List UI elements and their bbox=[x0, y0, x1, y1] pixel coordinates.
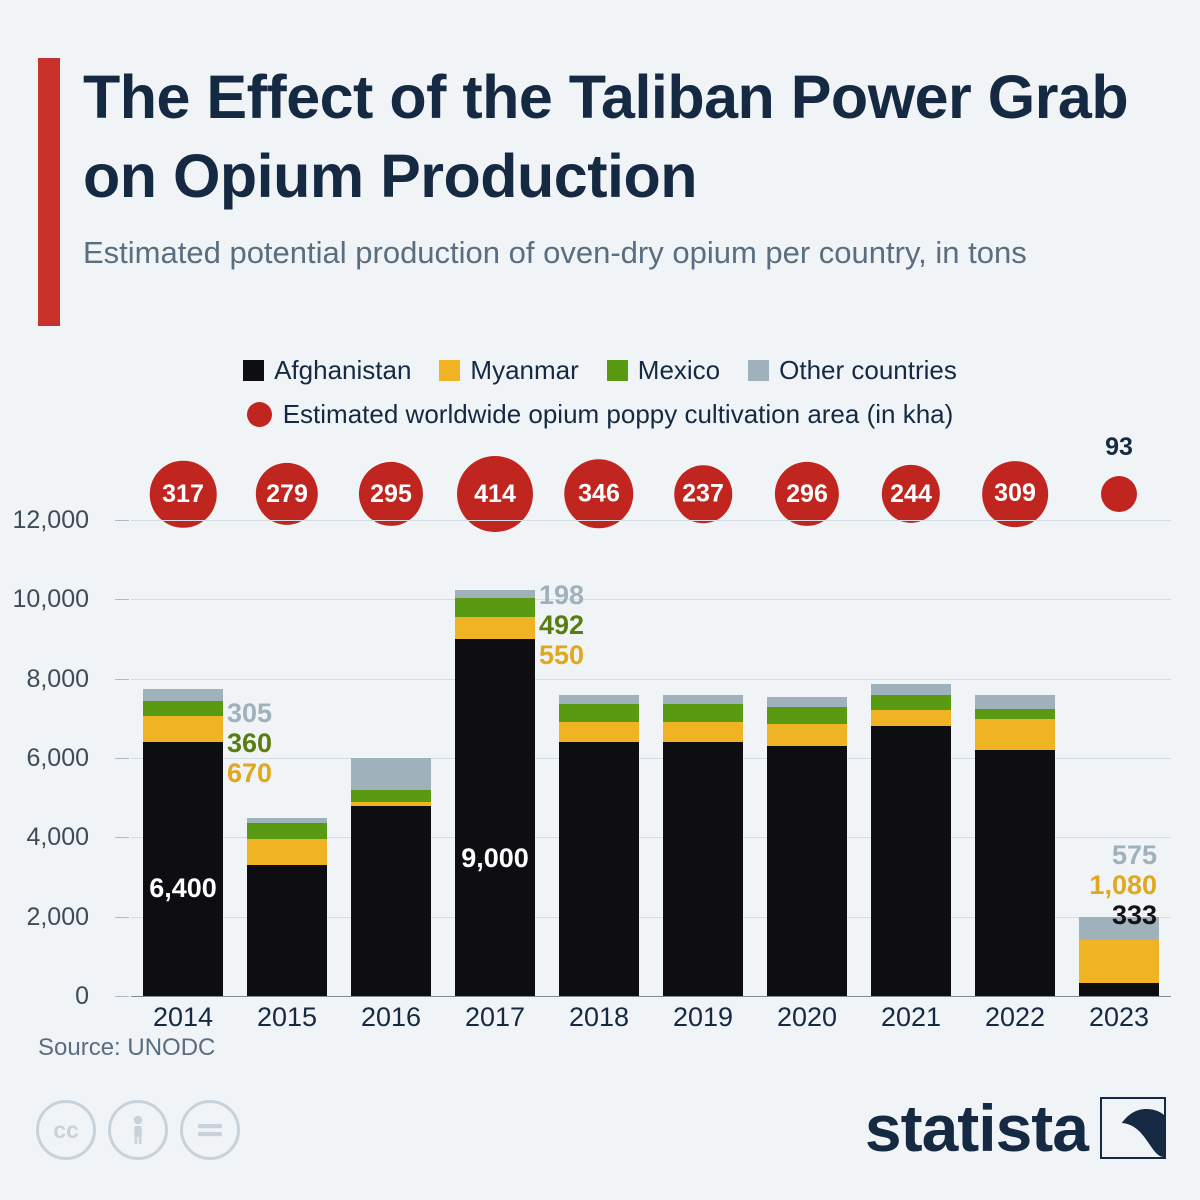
cc-nd-equals-icon[interactable] bbox=[180, 1100, 240, 1160]
statista-wordmark: statista bbox=[865, 1095, 1088, 1161]
x-axis-tick-label: 2017 bbox=[440, 1002, 550, 1033]
bar-segment-mexico[interactable] bbox=[143, 701, 223, 715]
square-swatch-icon bbox=[243, 360, 264, 381]
bar-segment-other-countries[interactable] bbox=[975, 695, 1055, 708]
x-axis-tick-label: 2021 bbox=[856, 1002, 966, 1033]
x-axis-tick-label: 2016 bbox=[336, 1002, 446, 1033]
bar-value-label: 6,400 bbox=[128, 873, 238, 904]
bar-segment-myanmar[interactable] bbox=[351, 802, 431, 806]
y-axis-tick-mark bbox=[115, 917, 129, 918]
legend-item-afghanistan[interactable]: Afghanistan bbox=[243, 355, 411, 386]
bar-segment-mexico[interactable] bbox=[559, 704, 639, 722]
bar-segment-afghanistan[interactable] bbox=[351, 806, 431, 996]
legend-label: Other countries bbox=[779, 355, 957, 386]
legend-label: Myanmar bbox=[470, 355, 578, 386]
bar-segment-other-countries[interactable] bbox=[455, 590, 535, 598]
bar-segment-other-countries[interactable] bbox=[351, 758, 431, 790]
bar-segment-afghanistan[interactable] bbox=[247, 865, 327, 996]
gridline bbox=[131, 679, 1171, 680]
x-axis-tick-label: 2014 bbox=[128, 1002, 238, 1033]
circle-marker-icon bbox=[247, 402, 272, 427]
bar-segment-mexico[interactable] bbox=[975, 709, 1055, 719]
bar-column[interactable] bbox=[975, 695, 1055, 996]
bar-column[interactable] bbox=[351, 758, 431, 996]
bar-segment-mexico[interactable] bbox=[767, 707, 847, 724]
bar-segment-value-label: 333 bbox=[1112, 900, 1157, 931]
square-swatch-icon bbox=[607, 360, 628, 381]
y-axis-tick-label: 10,000 bbox=[0, 585, 89, 614]
y-axis-tick-mark bbox=[115, 679, 129, 680]
bar-segment-myanmar[interactable] bbox=[663, 722, 743, 742]
x-axis-line bbox=[131, 996, 1171, 997]
bar-segment-myanmar[interactable] bbox=[871, 710, 951, 727]
gridline bbox=[131, 599, 1171, 600]
y-axis-tick-mark bbox=[115, 996, 129, 997]
bar-segment-myanmar[interactable] bbox=[143, 716, 223, 743]
y-axis-tick-label: 6,000 bbox=[0, 744, 89, 773]
x-axis-tick-label: 2022 bbox=[960, 1002, 1070, 1033]
bar-segment-value-label: 198 bbox=[539, 580, 584, 611]
legend-label: Afghanistan bbox=[274, 355, 411, 386]
legend-item-other-countries[interactable]: Other countries bbox=[748, 355, 957, 386]
bar-column[interactable] bbox=[871, 684, 951, 996]
bar-segment-afghanistan[interactable] bbox=[143, 742, 223, 996]
bar-segment-myanmar[interactable] bbox=[455, 617, 535, 639]
bar-segment-other-countries[interactable] bbox=[871, 684, 951, 695]
legend-series-row: Afghanistan Myanmar Mexico Other countri… bbox=[0, 348, 1200, 392]
bar-segment-mexico[interactable] bbox=[871, 695, 951, 710]
creative-commons-icons: cc bbox=[36, 1100, 240, 1160]
cc-by-person-icon[interactable] bbox=[108, 1100, 168, 1160]
bar-column[interactable] bbox=[247, 818, 327, 997]
y-axis-tick-mark bbox=[115, 837, 129, 838]
legend-item-myanmar[interactable]: Myanmar bbox=[439, 355, 578, 386]
bar-segment-afghanistan[interactable] bbox=[767, 746, 847, 996]
bar-segment-afghanistan[interactable] bbox=[663, 742, 743, 996]
square-swatch-icon bbox=[748, 360, 769, 381]
bar-segment-myanmar[interactable] bbox=[559, 722, 639, 743]
cc-icon[interactable]: cc bbox=[36, 1100, 96, 1160]
bar-segment-myanmar[interactable] bbox=[247, 839, 327, 865]
bar-segment-other-countries[interactable] bbox=[143, 689, 223, 701]
legend-item-cultivation-area[interactable]: Estimated worldwide opium poppy cultivat… bbox=[247, 399, 954, 430]
bar-segment-afghanistan[interactable] bbox=[559, 742, 639, 996]
bar-column[interactable] bbox=[767, 697, 847, 996]
legend-label: Estimated worldwide opium poppy cultivat… bbox=[283, 399, 954, 430]
bar-segment-other-countries[interactable] bbox=[663, 695, 743, 704]
y-axis-tick-label: 2,000 bbox=[0, 903, 89, 932]
bar-segment-value-label: 305 bbox=[227, 698, 272, 729]
x-axis-tick-label: 2015 bbox=[232, 1002, 342, 1033]
legend-label: Mexico bbox=[638, 355, 720, 386]
bar-segment-myanmar[interactable] bbox=[975, 719, 1055, 750]
chart-legend: Afghanistan Myanmar Mexico Other countri… bbox=[0, 348, 1200, 444]
page-subtitle: Estimated potential production of oven-d… bbox=[83, 232, 1083, 274]
source-note: Source: UNODC bbox=[38, 1034, 215, 1062]
statista-logo[interactable]: statista bbox=[865, 1095, 1166, 1161]
gridline bbox=[131, 520, 1171, 521]
bar-column[interactable] bbox=[559, 695, 639, 996]
bar-column[interactable] bbox=[143, 689, 223, 996]
bar-segment-myanmar[interactable] bbox=[767, 724, 847, 746]
bar-segment-value-label: 360 bbox=[227, 728, 272, 759]
y-axis-tick-mark bbox=[115, 520, 129, 521]
bar-segment-mexico[interactable] bbox=[455, 598, 535, 618]
y-axis-tick-label: 0 bbox=[0, 982, 89, 1011]
bar-segment-other-countries[interactable] bbox=[247, 818, 327, 824]
bar-segment-value-label: 492 bbox=[539, 610, 584, 641]
accent-bar bbox=[38, 58, 60, 326]
y-axis-tick-mark bbox=[115, 599, 129, 600]
y-axis-tick-label: 8,000 bbox=[0, 665, 89, 694]
bar-segment-value-label: 670 bbox=[227, 758, 272, 789]
bar-segment-mexico[interactable] bbox=[247, 823, 327, 839]
bar-segment-other-countries[interactable] bbox=[767, 697, 847, 707]
bar-segment-afghanistan[interactable] bbox=[455, 639, 535, 996]
square-swatch-icon bbox=[439, 360, 460, 381]
statista-mark-icon bbox=[1100, 1097, 1166, 1159]
bar-segment-mexico[interactable] bbox=[663, 704, 743, 722]
bar-segment-value-label: 575 bbox=[1112, 840, 1157, 871]
bar-segment-afghanistan[interactable] bbox=[871, 726, 951, 996]
bar-segment-other-countries[interactable] bbox=[559, 695, 639, 704]
legend-marker-row: Estimated worldwide opium poppy cultivat… bbox=[0, 392, 1200, 436]
bar-segment-afghanistan[interactable] bbox=[975, 750, 1055, 996]
x-axis-tick-label: 2020 bbox=[752, 1002, 862, 1033]
y-axis-tick-label: 12,000 bbox=[0, 506, 89, 535]
bar-column[interactable] bbox=[663, 695, 743, 996]
bar-value-label: 9,000 bbox=[440, 843, 550, 874]
plot-area: 02,0004,0006,0008,00010,00012,0002014201… bbox=[131, 520, 1171, 996]
x-axis-tick-label: 2023 bbox=[1064, 1002, 1174, 1033]
legend-item-mexico[interactable]: Mexico bbox=[607, 355, 720, 386]
chart-area: 02,0004,0006,0008,00010,00012,0002014201… bbox=[0, 455, 1200, 975]
y-axis-tick-label: 4,000 bbox=[0, 823, 89, 852]
bar-segment-mexico[interactable] bbox=[351, 790, 431, 802]
page-title: The Effect of the Taliban Power Grab on … bbox=[83, 58, 1183, 216]
x-axis-tick-label: 2019 bbox=[648, 1002, 758, 1033]
bar-column[interactable] bbox=[455, 590, 535, 996]
x-axis-tick-label: 2018 bbox=[544, 1002, 654, 1033]
bar-segment-myanmar[interactable] bbox=[1079, 940, 1159, 983]
y-axis-tick-mark bbox=[115, 758, 129, 759]
header: The Effect of the Taliban Power Grab on … bbox=[0, 0, 1200, 330]
bar-segment-afghanistan[interactable] bbox=[1079, 983, 1159, 996]
bar-segment-value-label: 550 bbox=[539, 640, 584, 671]
bar-segment-value-label: 1,080 bbox=[1089, 870, 1157, 901]
